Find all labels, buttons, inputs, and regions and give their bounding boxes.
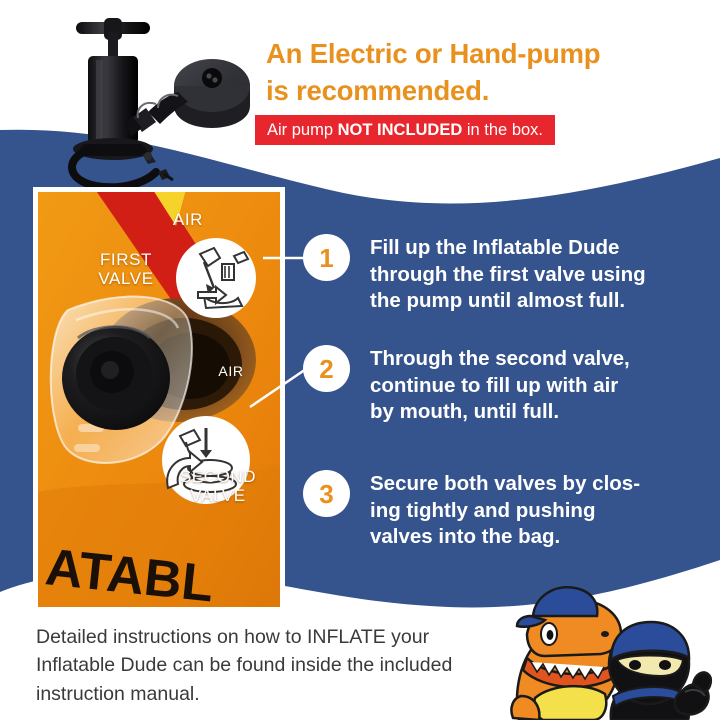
caption-second-valve: SECOND VALVE xyxy=(158,467,278,505)
step-2-badge: 2 xyxy=(303,345,350,392)
valve-photo-panel: ATABL xyxy=(33,187,285,612)
ninja-mascot xyxy=(609,622,711,720)
step-3-text: Secure both valves by clos- ing tightly … xyxy=(370,470,680,551)
step-2: 2 Through the second valve, continue to … xyxy=(303,345,680,426)
step-1-badge: 1 xyxy=(303,234,350,281)
mascot-group xyxy=(505,572,720,720)
first-valve-callout xyxy=(176,238,256,318)
caption-air-bottom: AIR xyxy=(206,364,256,380)
banner-prefix: Air pump xyxy=(267,121,338,139)
page-headline: An Electric or Hand-pump is recommended. xyxy=(266,36,686,109)
banner-emphasis: NOT INCLUDED xyxy=(338,121,463,139)
hand-pump-photo xyxy=(72,18,173,187)
pump-photo xyxy=(60,4,290,194)
headline-line-1: An Electric or Hand-pump xyxy=(266,36,686,73)
step-3: 3 Secure both valves by clos- ing tightl… xyxy=(303,470,680,551)
infographic-canvas: An Electric or Hand-pump is recommended.… xyxy=(0,0,720,720)
step-1: 1 Fill up the Inflatable Dude through th… xyxy=(303,234,680,315)
bottom-note: Detailed instructions on how to INFLATE … xyxy=(36,623,516,708)
step-1-text: Fill up the Inflatable Dude through the … xyxy=(370,234,680,315)
banner-suffix: in the box. xyxy=(462,121,543,139)
dinosaur-mascot xyxy=(511,587,621,720)
caption-air-top: AIR xyxy=(158,210,218,229)
step-3-badge: 3 xyxy=(303,470,350,517)
headline-line-2: is recommended. xyxy=(266,73,686,110)
not-included-banner: Air pump NOT INCLUDED in the box. xyxy=(255,115,555,145)
electric-pump-photo xyxy=(124,59,250,136)
step-2-text: Through the second valve, continue to fi… xyxy=(370,345,680,426)
caption-first-valve: FIRST VALVE xyxy=(76,250,176,288)
